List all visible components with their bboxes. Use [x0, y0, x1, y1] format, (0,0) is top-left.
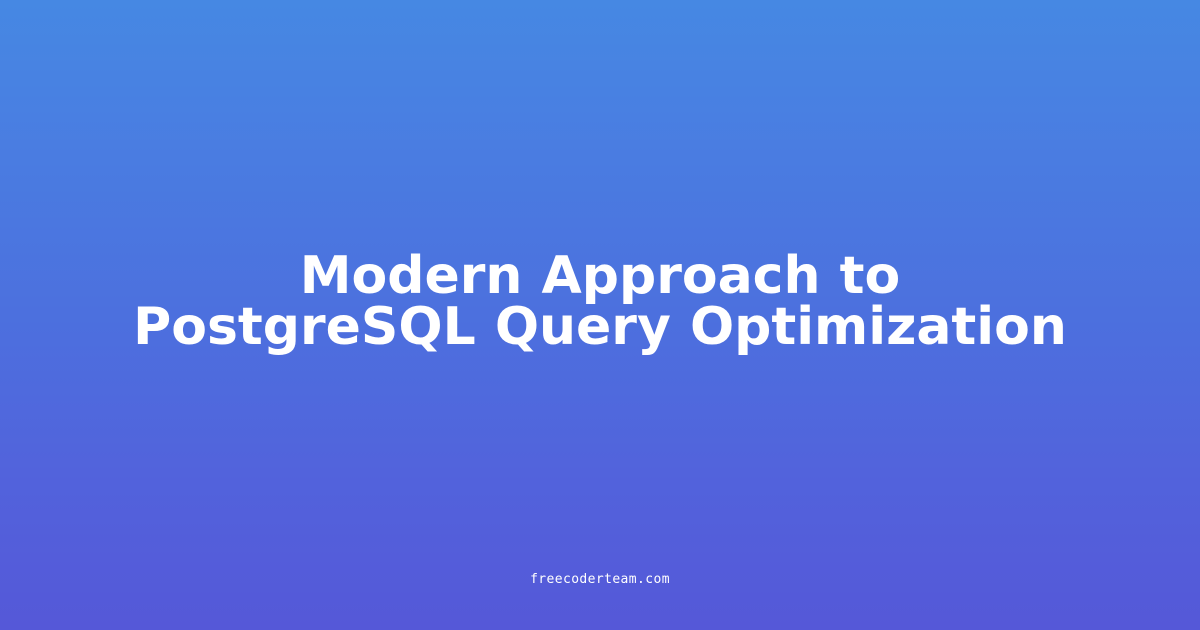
social-share-card: Modern Approach to PostgreSQL Query Opti…: [0, 0, 1200, 630]
card-footer: freecoderteam.com: [0, 573, 1200, 587]
title-block: Modern Approach to PostgreSQL Query Opti…: [120, 251, 1080, 353]
site-watermark: freecoderteam.com: [0, 573, 1200, 587]
page-title: Modern Approach to PostgreSQL Query Opti…: [120, 251, 1080, 353]
